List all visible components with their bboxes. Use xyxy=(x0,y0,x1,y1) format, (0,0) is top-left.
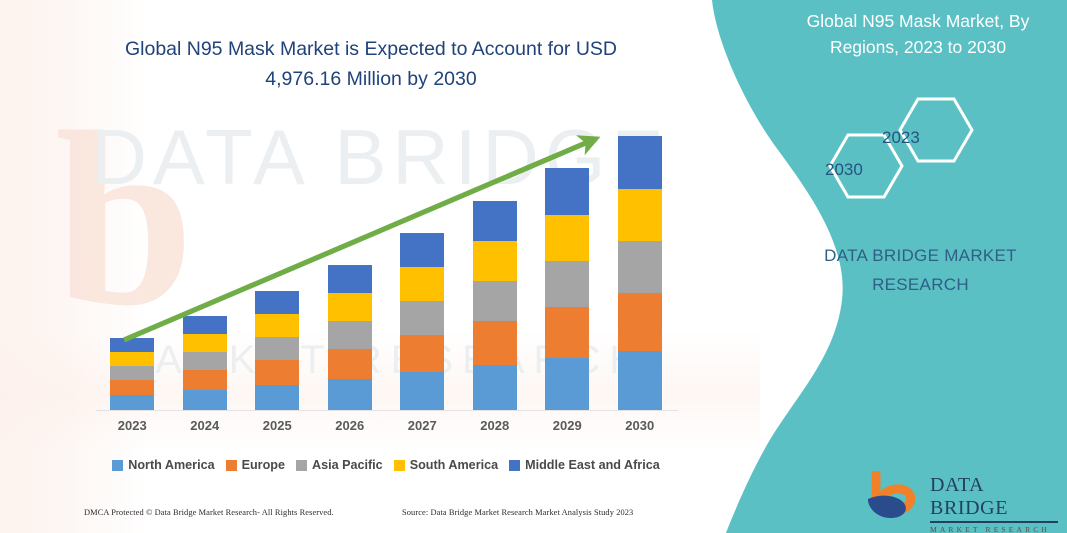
logo-mark-icon xyxy=(860,471,924,521)
legend-swatch-icon xyxy=(226,460,237,471)
chart-legend: North AmericaEuropeAsia PacificSouth Ame… xyxy=(96,455,676,475)
panel-title: Global N95 Mask Market, By Regions, 2023… xyxy=(778,8,1058,60)
hex-badge-group xyxy=(800,95,1050,210)
bar-segment xyxy=(473,365,517,411)
bar-segment xyxy=(255,291,299,314)
bar-segment xyxy=(183,370,227,390)
bar-segment xyxy=(545,261,589,307)
bar-segment xyxy=(110,366,154,380)
logo-title: DATA BRIDGE xyxy=(930,474,1060,520)
bar-segment xyxy=(255,385,299,411)
bar-segment xyxy=(110,338,154,352)
bar-segment xyxy=(473,321,517,365)
infographic-canvas: b DATA BRIDGE MARKET RESEARCH Global N95… xyxy=(0,0,1067,533)
bar-segment xyxy=(183,352,227,370)
bar-segment xyxy=(618,136,662,189)
bar-segment xyxy=(183,334,227,352)
legend-item: Europe xyxy=(226,458,285,472)
chart-axis-line xyxy=(96,410,678,411)
hex-badge-2023-label: 2023 xyxy=(882,128,920,148)
legend-swatch-icon xyxy=(112,460,123,471)
chart-x-axis-labels: 20232024202520262027202820292030 xyxy=(96,418,676,442)
chart-plot-area xyxy=(96,120,676,411)
logo-divider xyxy=(930,521,1058,523)
legend-item: Middle East and Africa xyxy=(509,458,660,472)
hex-badge-2030-label: 2030 xyxy=(825,160,863,180)
x-axis-label-2028: 2028 xyxy=(465,418,525,433)
bar-segment xyxy=(545,307,589,358)
footer-copyright: DMCA Protected © Data Bridge Market Rese… xyxy=(84,508,334,517)
side-panel: Global N95 Mask Market, By Regions, 2023… xyxy=(690,0,1067,533)
footer-source: Source: Data Bridge Market Research Mark… xyxy=(402,508,633,517)
x-axis-label-2027: 2027 xyxy=(392,418,452,433)
panel-brand-text: DATA BRIDGE MARKET RESEARCH xyxy=(778,241,1063,299)
legend-label: South America xyxy=(410,458,498,472)
x-axis-label-2023: 2023 xyxy=(102,418,162,433)
brand-logo: DATA BRIDGE MARKET RESEARCH xyxy=(860,471,1060,523)
bar-2027 xyxy=(400,233,444,411)
bar-segment xyxy=(255,314,299,337)
legend-label: Asia Pacific xyxy=(312,458,383,472)
bar-segment xyxy=(328,293,372,321)
bar-segment xyxy=(618,241,662,293)
bar-2029 xyxy=(545,168,589,411)
bar-2024 xyxy=(183,316,227,411)
bar-segment xyxy=(400,233,444,267)
bar-segment xyxy=(328,379,372,411)
stacked-bar-chart: 20232024202520262027202820292030 xyxy=(0,0,700,460)
x-axis-label-2024: 2024 xyxy=(175,418,235,433)
bar-segment xyxy=(110,380,154,395)
bar-segment xyxy=(400,301,444,335)
logo-subtitle: MARKET RESEARCH xyxy=(930,525,1060,533)
bar-segment xyxy=(328,349,372,379)
bar-segment xyxy=(545,358,589,411)
bar-segment xyxy=(110,395,154,411)
bar-2030 xyxy=(618,136,662,411)
bar-segment xyxy=(545,168,589,215)
x-axis-label-2025: 2025 xyxy=(247,418,307,433)
legend-label: Middle East and Africa xyxy=(525,458,660,472)
bar-segment xyxy=(618,189,662,241)
bar-segment xyxy=(473,241,517,281)
bar-segment xyxy=(183,316,227,334)
bar-segment xyxy=(473,281,517,321)
bar-segment xyxy=(400,267,444,301)
bar-segment xyxy=(328,265,372,293)
bar-segment xyxy=(473,201,517,241)
bar-segment xyxy=(545,215,589,261)
bar-segment xyxy=(618,293,662,351)
bar-segment xyxy=(110,352,154,366)
bar-segment xyxy=(400,335,444,372)
bar-segment xyxy=(328,321,372,349)
bar-segment xyxy=(400,372,444,411)
legend-item: North America xyxy=(112,458,214,472)
legend-swatch-icon xyxy=(394,460,405,471)
logo-text-block: DATA BRIDGE MARKET RESEARCH xyxy=(930,474,1060,533)
bar-2026 xyxy=(328,265,372,411)
legend-item: South America xyxy=(394,458,498,472)
x-axis-label-2029: 2029 xyxy=(537,418,597,433)
bar-segment xyxy=(255,360,299,385)
x-axis-label-2026: 2026 xyxy=(320,418,380,433)
legend-label: Europe xyxy=(242,458,285,472)
legend-swatch-icon xyxy=(296,460,307,471)
bar-segment xyxy=(255,337,299,360)
bar-2025 xyxy=(255,291,299,411)
legend-item: Asia Pacific xyxy=(296,458,383,472)
legend-swatch-icon xyxy=(509,460,520,471)
bar-2023 xyxy=(110,338,154,411)
bar-segment xyxy=(618,351,662,411)
x-axis-label-2030: 2030 xyxy=(610,418,670,433)
bar-segment xyxy=(183,390,227,411)
legend-label: North America xyxy=(128,458,214,472)
bar-2028 xyxy=(473,201,517,411)
